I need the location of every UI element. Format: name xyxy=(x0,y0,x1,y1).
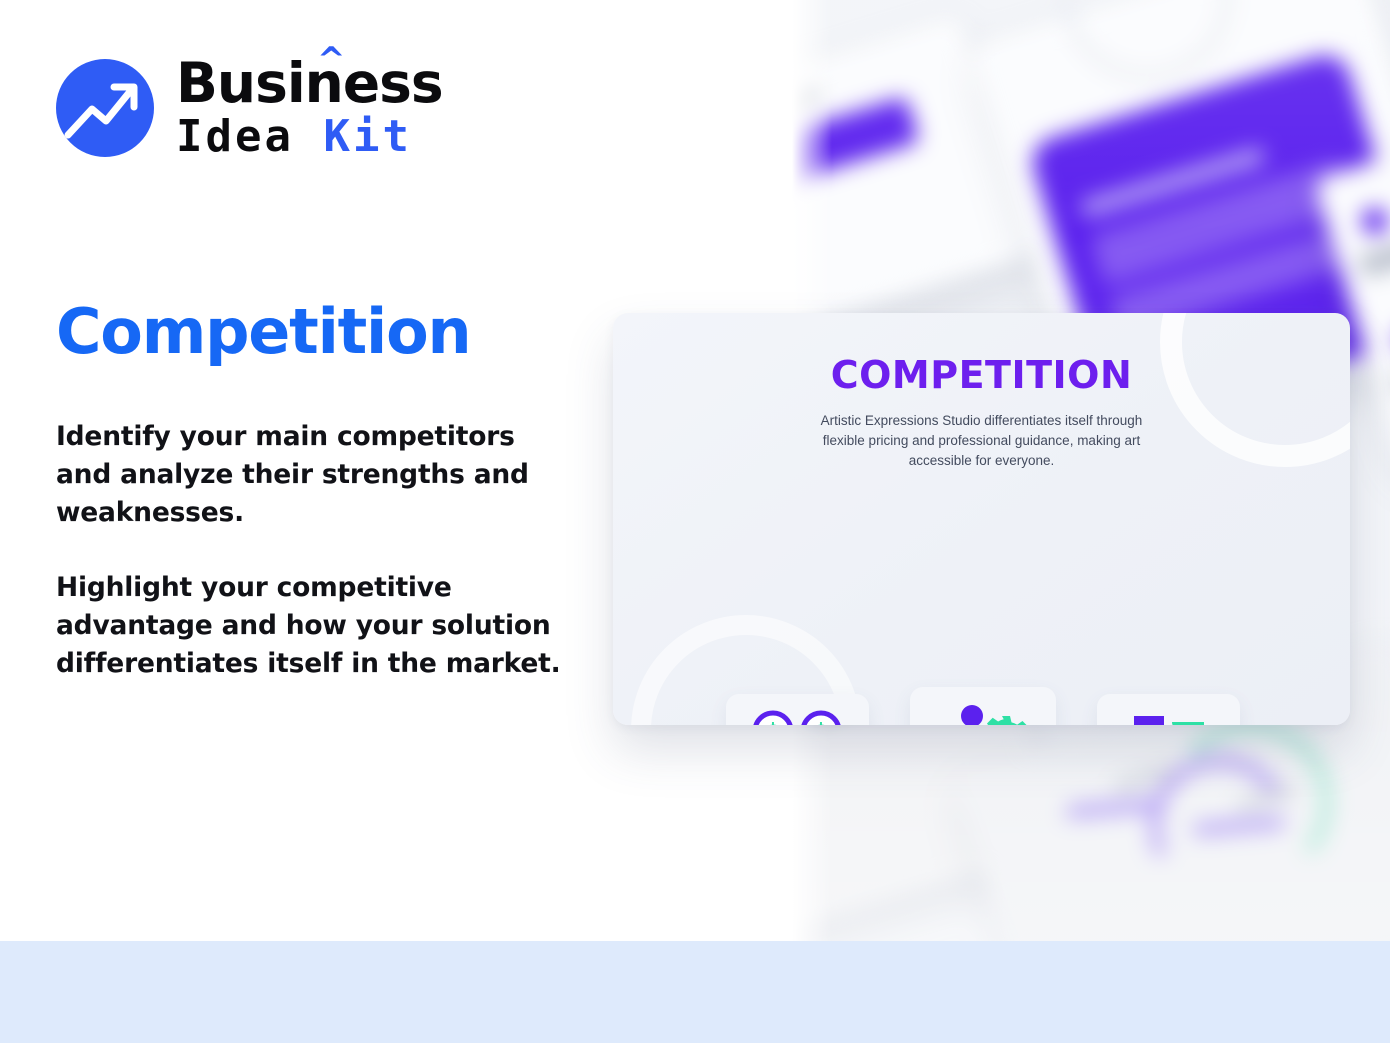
body-copy: Identify your main competitors and analy… xyxy=(56,418,576,683)
feature-card-row: $ $ Flexible Pricing xyxy=(613,509,1350,697)
page-title: Competition xyxy=(56,295,470,368)
paragraph-2: Highlight your competitive advantage and… xyxy=(56,569,576,683)
brand-idea-text: Idea xyxy=(176,111,294,162)
competition-preview-card[interactable]: COMPETITION Artistic Expressions Studio … xyxy=(613,313,1350,725)
brand-name-text: Business xyxy=(176,51,443,115)
growth-chart-arrow-icon xyxy=(56,59,154,157)
brand-kit-text: Kit xyxy=(323,111,411,162)
gears-lightbulb-chart-icon xyxy=(932,703,1034,725)
brand-name-line1: Business ^ xyxy=(176,56,443,111)
brand-caret-accent-icon: ^ xyxy=(317,43,345,77)
preview-card-description: Artistic Expressions Studio differentiat… xyxy=(802,411,1162,471)
brand-logo: Business ^ Idea Kit xyxy=(56,56,443,159)
feature-card-flexible-pricing[interactable]: $ $ Flexible Pricing xyxy=(726,694,869,725)
slide-canvas: Business ^ Idea Kit Competition Identify… xyxy=(0,0,1390,1043)
paragraph-1: Identify your main competitors and analy… xyxy=(56,418,576,532)
feature-card-professional-artists[interactable]: Professional Artists xyxy=(910,687,1056,725)
brand-wordmark: Business ^ Idea Kit xyxy=(176,56,443,159)
stacked-coins-dollar-icon: $ $ xyxy=(747,710,849,725)
preview-card-title: COMPETITION xyxy=(613,353,1350,397)
puzzle-pieces-icon xyxy=(1118,710,1220,725)
svg-text:$: $ xyxy=(812,718,829,725)
footer-band xyxy=(0,941,1390,1043)
feature-card-community-integration[interactable]: Community Integration xyxy=(1097,694,1240,725)
brand-name-line2: Idea Kit xyxy=(176,115,443,159)
svg-text:$: $ xyxy=(764,718,781,725)
